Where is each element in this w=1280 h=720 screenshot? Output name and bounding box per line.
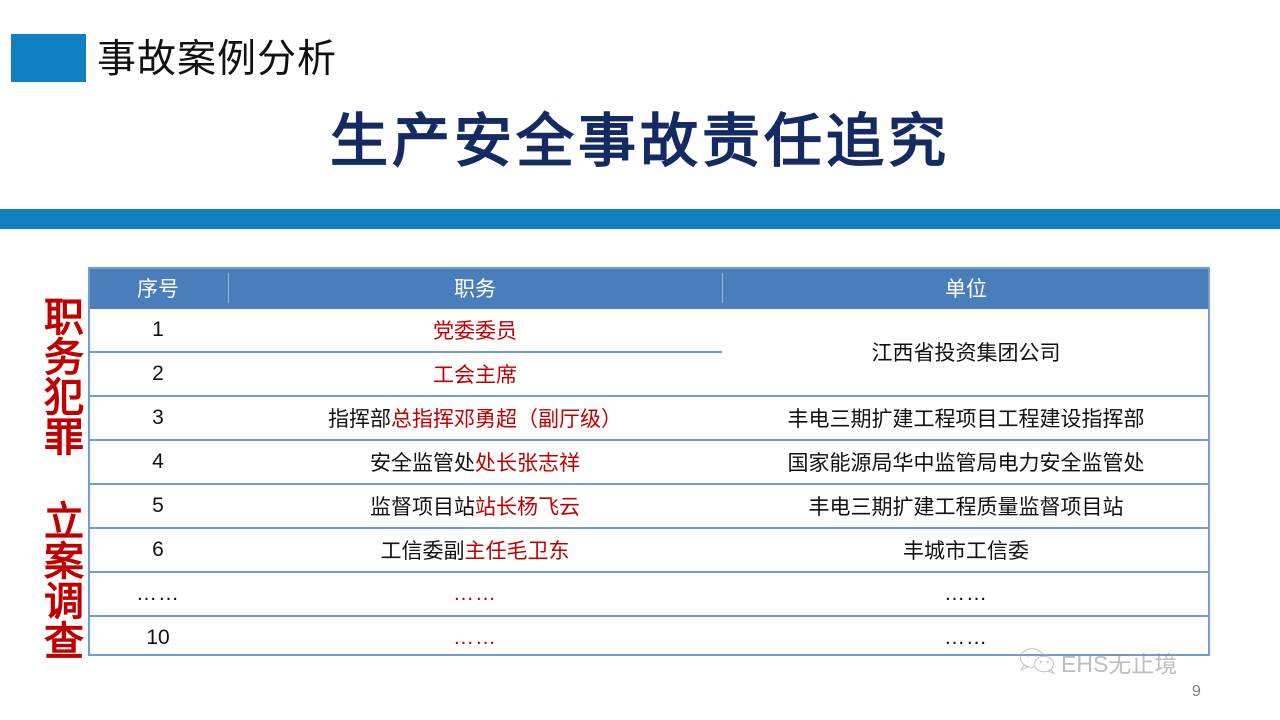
cell-no: 5: [88, 484, 228, 528]
table-row: 5监督项目站站长杨飞云丰电三期扩建工程质量监督项目站: [88, 484, 1210, 528]
cell-position: 工会主席: [228, 352, 722, 396]
cell-position: 监督项目站站长杨飞云: [228, 484, 722, 528]
watermark-text: EHS无止境: [1061, 645, 1177, 679]
cell-unit: 丰电三期扩建工程项目工程建设指挥部: [722, 396, 1210, 440]
header-accent-block: [11, 34, 86, 82]
cell-position: 工信委副主任毛卫东: [228, 528, 722, 572]
case-table: 序号 职务 单位 1党委委员江西省投资集团公司2工会主席3指挥部总指挥邓勇超（副…: [88, 267, 1210, 659]
table-body: 1党委委员江西省投资集团公司2工会主席3指挥部总指挥邓勇超（副厅级）丰电三期扩建…: [88, 309, 1210, 659]
column-header-unit: 单位: [722, 267, 1210, 309]
cell-no: 10: [88, 616, 228, 659]
cell-unit: 丰电三期扩建工程质量监督项目站: [722, 484, 1210, 528]
cell-unit: ……: [722, 572, 1210, 616]
table-header-row: 序号 职务 单位: [88, 267, 1210, 309]
table-row: 1党委委员江西省投资集团公司: [88, 309, 1210, 352]
table-row: 4安全监管处处长张志祥国家能源局华中监管局电力安全监管处: [88, 440, 1210, 484]
cell-position: 指挥部总指挥邓勇超（副厅级）: [228, 396, 722, 440]
page-number: 9: [1192, 683, 1201, 701]
page-title: 生产安全事故责任追究: [0, 104, 1280, 180]
cell-no: ……: [88, 572, 228, 616]
cell-unit: 江西省投资集团公司: [722, 309, 1210, 396]
cell-no: 1: [88, 309, 228, 352]
table-row: 6工信委副主任毛卫东丰城市工信委: [88, 528, 1210, 572]
side-label-vertical: 职务犯罪 立案调查: [24, 298, 80, 658]
cell-position: 党委委员: [228, 309, 722, 352]
column-header-position: 职务: [228, 267, 722, 309]
cell-no: 2: [88, 352, 228, 396]
cell-no: 6: [88, 528, 228, 572]
table-row: 3指挥部总指挥邓勇超（副厅级）丰电三期扩建工程项目工程建设指挥部: [88, 396, 1210, 440]
cell-position: 安全监管处处长张志祥: [228, 440, 722, 484]
column-header-no: 序号: [88, 267, 228, 309]
header-kicker: 事故案例分析: [97, 36, 337, 84]
divider-bar: [0, 209, 1280, 229]
cell-unit: 丰城市工信委: [722, 528, 1210, 572]
cell-no: 4: [88, 440, 228, 484]
cell-position: ……: [228, 572, 722, 616]
table-row: ………………: [88, 572, 1210, 616]
cell-no: 3: [88, 396, 228, 440]
cell-position: ……: [228, 616, 722, 659]
wechat-icon: [1018, 647, 1058, 677]
watermark: EHS无止境: [1018, 645, 1177, 679]
cell-unit: 国家能源局华中监管局电力安全监管处: [722, 440, 1210, 484]
